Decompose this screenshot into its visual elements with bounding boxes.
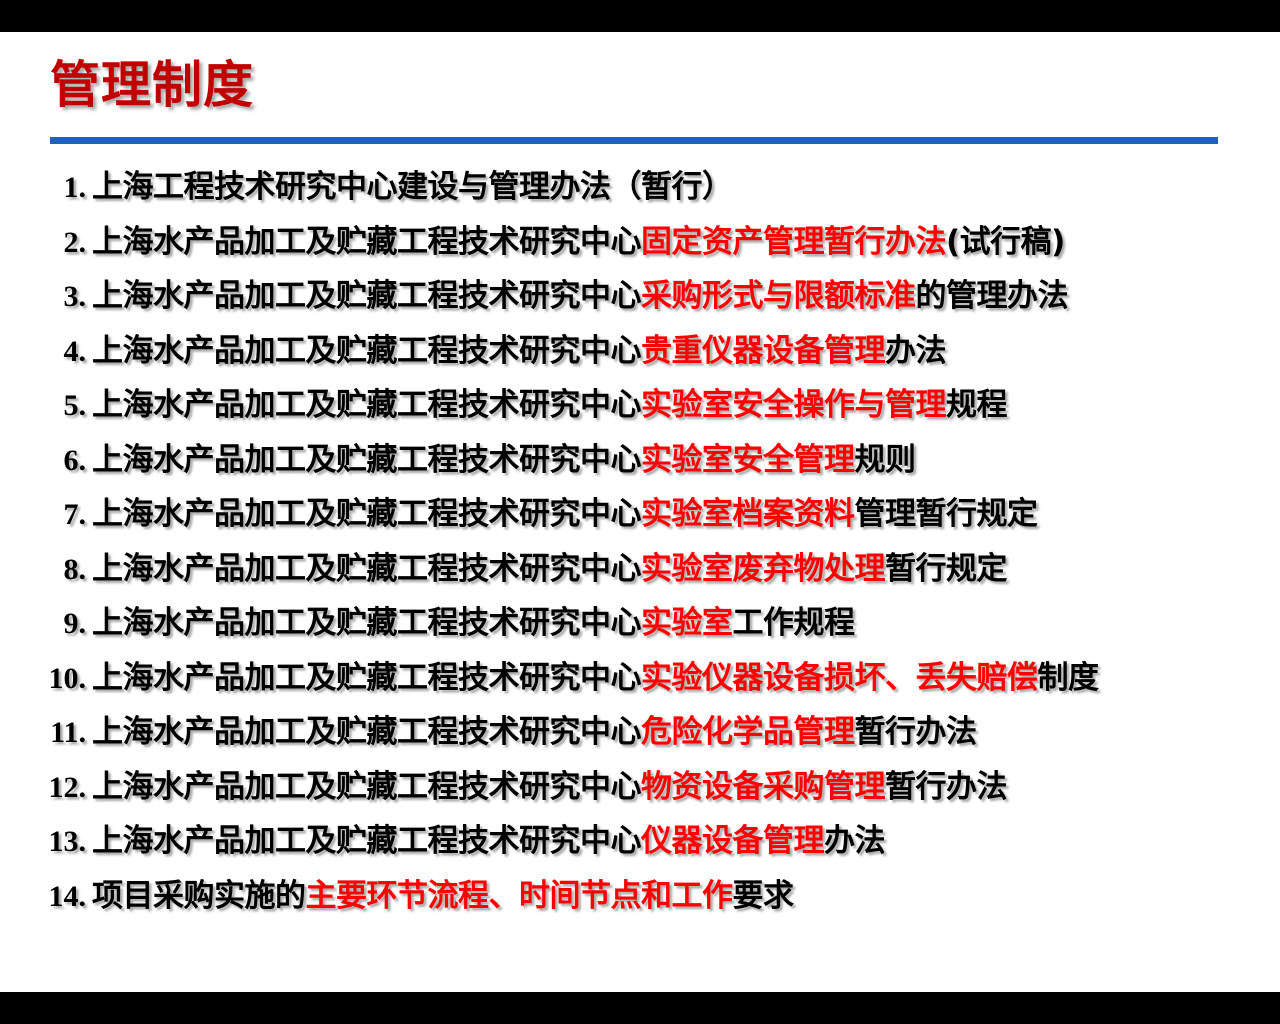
text-segment: 上海水产品加工及贮藏工程技术研究中心 — [92, 496, 641, 532]
list-item-text: 上海工程技术研究中心建设与管理办法（暂行） — [92, 169, 733, 205]
highlighted-text-segment: 实验室档案资料 — [641, 496, 855, 532]
highlighted-text-segment: 贵重仪器设备管理 — [641, 333, 885, 369]
list-item-text: 上海水产品加工及贮藏工程技术研究中心实验室安全操作与管理规程 — [92, 387, 1007, 423]
list-item: 9.上海水产品加工及贮藏工程技术研究中心实验室工作规程 — [40, 596, 1260, 651]
list-item-text: 上海水产品加工及贮藏工程技术研究中心仪器设备管理办法 — [92, 823, 885, 859]
text-segment: 上海水产品加工及贮藏工程技术研究中心 — [92, 769, 641, 805]
letterbox-top-bar — [0, 0, 1280, 32]
list-item-text: 上海水产品加工及贮藏工程技术研究中心采购形式与限额标准的管理办法 — [92, 278, 1068, 314]
list-item-number: 1. — [40, 161, 86, 216]
text-segment: 暂行规定 — [885, 551, 1007, 587]
text-segment: 上海水产品加工及贮藏工程技术研究中心 — [92, 605, 641, 641]
text-segment: 上海水产品加工及贮藏工程技术研究中心 — [92, 660, 641, 696]
text-segment: 上海水产品加工及贮藏工程技术研究中心 — [92, 823, 641, 859]
highlighted-text-segment: 危险化学品管理 — [641, 714, 855, 750]
letterbox-bottom-bar — [0, 992, 1280, 1024]
text-segment: 暂行办法 — [885, 769, 1007, 805]
list-item-text: 项目采购实施的主要环节流程、时间节点和工作要求 — [92, 878, 794, 914]
list-item: 14.项目采购实施的主要环节流程、时间节点和工作要求 — [40, 869, 1260, 924]
text-segment: 工作规程 — [733, 605, 855, 641]
text-segment: 办法 — [824, 823, 885, 859]
list-item: 11.上海水产品加工及贮藏工程技术研究中心危险化学品管理暂行办法 — [40, 705, 1260, 760]
list-item-number: 14. — [40, 870, 86, 925]
list-item-number: 12. — [40, 761, 86, 816]
management-regulations-list: 1.上海工程技术研究中心建设与管理办法（暂行）2.上海水产品加工及贮藏工程技术研… — [40, 160, 1260, 923]
list-item-text: 上海水产品加工及贮藏工程技术研究中心实验室安全管理规则 — [92, 442, 916, 478]
list-item-text: 上海水产品加工及贮藏工程技术研究中心实验室工作规程 — [92, 605, 855, 641]
list-item: 8.上海水产品加工及贮藏工程技术研究中心实验室废弃物处理暂行规定 — [40, 542, 1260, 597]
list-item-number: 5. — [40, 379, 86, 434]
text-segment: 上海水产品加工及贮藏工程技术研究中心 — [92, 278, 641, 314]
text-segment: (试行稿) — [946, 224, 1065, 260]
list-item: 10.上海水产品加工及贮藏工程技术研究中心实验仪器设备损坏、丢失赔偿制度 — [40, 651, 1260, 706]
highlighted-text-segment: 实验室 — [641, 605, 733, 641]
list-item-text: 上海水产品加工及贮藏工程技术研究中心实验室废弃物处理暂行规定 — [92, 551, 1007, 587]
text-segment: 项目采购实施的 — [92, 878, 306, 914]
text-segment: 上海工程技术研究中心建设与管理办法（暂行） — [92, 169, 733, 205]
list-item-number: 9. — [40, 597, 86, 652]
text-segment: 的管理办法 — [916, 278, 1069, 314]
list-item: 7.上海水产品加工及贮藏工程技术研究中心实验室档案资料管理暂行规定 — [40, 487, 1260, 542]
text-segment: 暂行办法 — [855, 714, 977, 750]
list-item: 6.上海水产品加工及贮藏工程技术研究中心实验室安全管理规则 — [40, 433, 1260, 488]
list-item: 2.上海水产品加工及贮藏工程技术研究中心固定资产管理暂行办法(试行稿) — [40, 215, 1260, 270]
list-item-number: 7. — [40, 488, 86, 543]
list-item-number: 6. — [40, 434, 86, 489]
highlighted-text-segment: 采购形式与限额标准 — [641, 278, 916, 314]
presentation-slide: 管理制度 1.上海工程技术研究中心建设与管理办法（暂行）2.上海水产品加工及贮藏… — [0, 0, 1280, 1024]
text-segment: 上海水产品加工及贮藏工程技术研究中心 — [92, 551, 641, 587]
list-item: 3.上海水产品加工及贮藏工程技术研究中心采购形式与限额标准的管理办法 — [40, 269, 1260, 324]
list-item: 13.上海水产品加工及贮藏工程技术研究中心仪器设备管理办法 — [40, 814, 1260, 869]
list-item: 5.上海水产品加工及贮藏工程技术研究中心实验室安全操作与管理规程 — [40, 378, 1260, 433]
slide-canvas: 管理制度 1.上海工程技术研究中心建设与管理办法（暂行）2.上海水产品加工及贮藏… — [0, 32, 1280, 992]
text-segment: 要求 — [733, 878, 794, 914]
list-item-text: 上海水产品加工及贮藏工程技术研究中心实验室档案资料管理暂行规定 — [92, 496, 1038, 532]
highlighted-text-segment: 实验室废弃物处理 — [641, 551, 885, 587]
text-segment: 规则 — [855, 442, 916, 478]
text-segment: 上海水产品加工及贮藏工程技术研究中心 — [92, 224, 641, 260]
page-title: 管理制度 — [50, 60, 254, 110]
list-item-text: 上海水产品加工及贮藏工程技术研究中心贵重仪器设备管理办法 — [92, 333, 946, 369]
highlighted-text-segment: 物资设备采购管理 — [641, 769, 885, 805]
list-item-number: 13. — [40, 815, 86, 870]
text-segment: 管理暂行规定 — [855, 496, 1038, 532]
list-item-number: 8. — [40, 543, 86, 598]
highlighted-text-segment: 主要环节流程、时间节点和工作 — [306, 878, 733, 914]
text-segment: 规程 — [946, 387, 1007, 423]
highlighted-text-segment: 固定资产管理暂行办法 — [641, 224, 946, 260]
list-item-number: 11. — [40, 706, 86, 761]
list-item-number: 3. — [40, 270, 86, 325]
text-segment: 上海水产品加工及贮藏工程技术研究中心 — [92, 442, 641, 478]
text-segment: 上海水产品加工及贮藏工程技术研究中心 — [92, 387, 641, 423]
list-item: 4.上海水产品加工及贮藏工程技术研究中心贵重仪器设备管理办法 — [40, 324, 1260, 379]
list-item: 12.上海水产品加工及贮藏工程技术研究中心物资设备采购管理暂行办法 — [40, 760, 1260, 815]
list-item-text: 上海水产品加工及贮藏工程技术研究中心物资设备采购管理暂行办法 — [92, 769, 1007, 805]
list-item-text: 上海水产品加工及贮藏工程技术研究中心固定资产管理暂行办法(试行稿) — [92, 224, 1065, 260]
highlighted-text-segment: 实验室安全操作与管理 — [641, 387, 946, 423]
text-segment: 制度 — [1038, 660, 1099, 696]
list-item-text: 上海水产品加工及贮藏工程技术研究中心危险化学品管理暂行办法 — [92, 714, 977, 750]
text-segment: 上海水产品加工及贮藏工程技术研究中心 — [92, 714, 641, 750]
highlighted-text-segment: 实验室安全管理 — [641, 442, 855, 478]
text-segment: 上海水产品加工及贮藏工程技术研究中心 — [92, 333, 641, 369]
list-item-number: 2. — [40, 216, 86, 271]
list-item-number: 4. — [40, 325, 86, 380]
text-segment: 办法 — [885, 333, 946, 369]
highlighted-text-segment: 实验仪器设备损坏、丢失赔偿 — [641, 660, 1038, 696]
list-item: 1.上海工程技术研究中心建设与管理办法（暂行） — [40, 160, 1260, 215]
list-item-text: 上海水产品加工及贮藏工程技术研究中心实验仪器设备损坏、丢失赔偿制度 — [92, 660, 1099, 696]
title-underline-rule — [50, 137, 1218, 144]
highlighted-text-segment: 仪器设备管理 — [641, 823, 824, 859]
list-item-number: 10. — [40, 652, 86, 707]
